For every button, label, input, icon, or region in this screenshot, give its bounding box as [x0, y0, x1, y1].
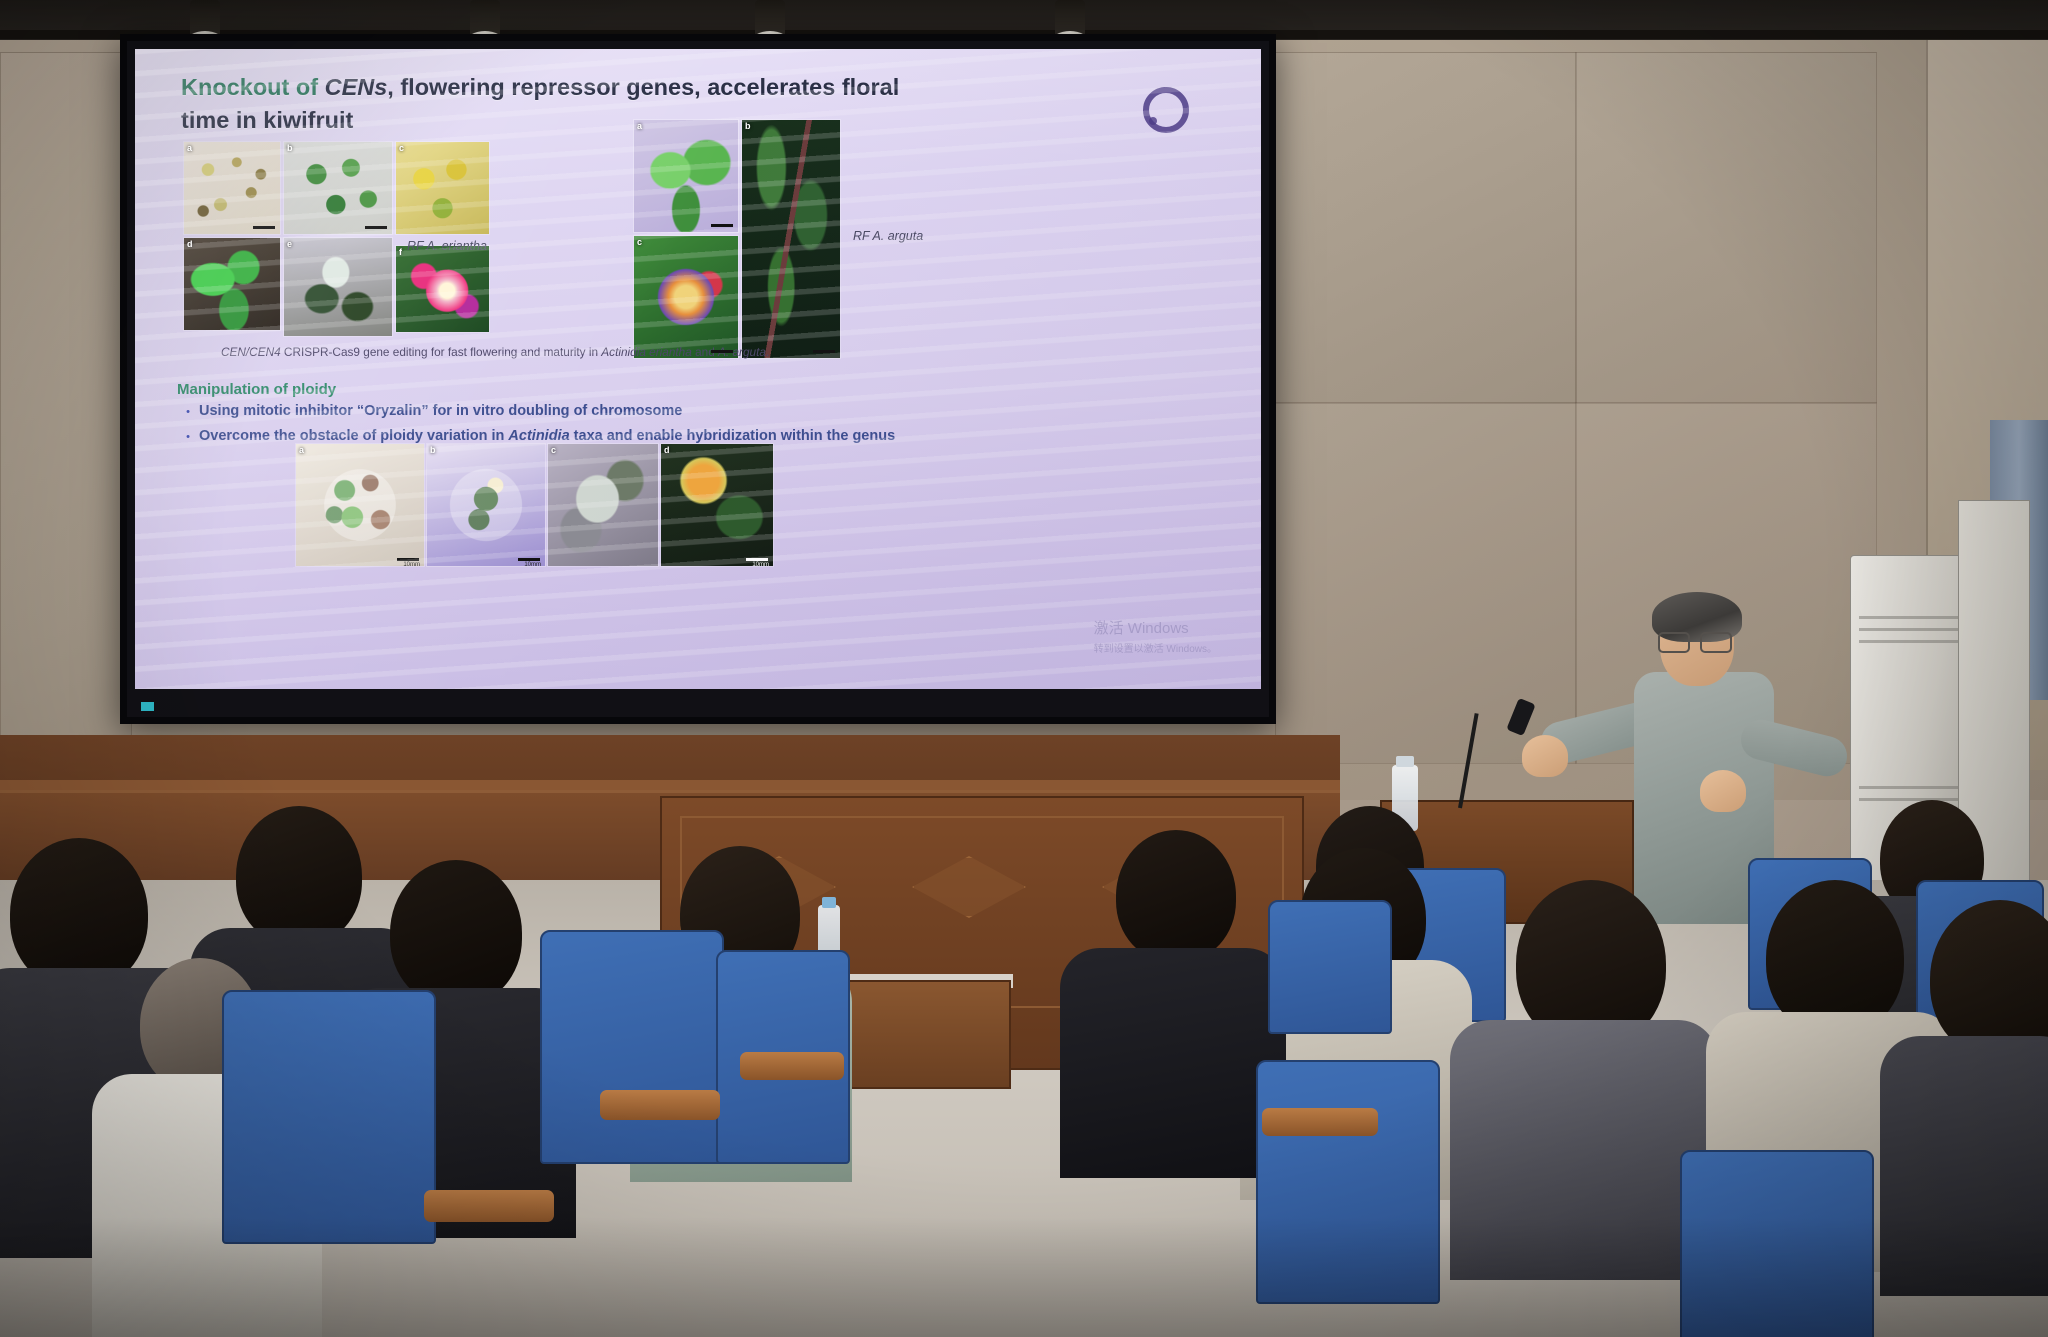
panel-label: a: [299, 445, 304, 455]
windows-activation-watermark: 激活 Windows 转到设置以激活 Windows。: [1094, 617, 1217, 655]
lecture-hall-photo: Knockout of CENs, flowering repressor ge…: [0, 0, 2048, 1337]
scale-bar-icon: [397, 558, 419, 561]
watermark-subtitle: 转到设置以激活 Windows。: [1094, 640, 1217, 655]
seat-chair: [1256, 1060, 1440, 1304]
audience-body: [1450, 1020, 1718, 1280]
panel-label: c: [551, 445, 556, 455]
scale-bar-icon: [813, 350, 835, 353]
audience-head: [1116, 830, 1236, 962]
panel-label: a: [637, 121, 642, 131]
chair-armrest: [424, 1190, 554, 1222]
audience-body: [1880, 1036, 2048, 1296]
audience: [0, 0, 2048, 1337]
seat-chair: [540, 930, 724, 1164]
panel-label: c: [637, 237, 642, 247]
scale-bar-icon: [518, 558, 540, 561]
panel-label: d: [664, 445, 670, 455]
chair-armrest: [600, 1090, 720, 1120]
audience-body: [1060, 948, 1286, 1178]
scale-bar-icon: [746, 558, 768, 561]
scale-bar-icon: [711, 350, 733, 353]
seat-chair: [222, 990, 436, 1244]
chair-armrest: [740, 1052, 844, 1080]
panel-label: b: [430, 445, 436, 455]
seat-chair: [1268, 900, 1392, 1034]
chair-armrest: [1262, 1108, 1378, 1136]
audience-head: [236, 806, 362, 946]
scale-bar-icon: [253, 226, 275, 229]
panel-label: f: [399, 247, 402, 257]
scale-bar-icon: [365, 226, 387, 229]
watermark-title: 激活 Windows: [1094, 617, 1217, 638]
audience-head: [390, 860, 522, 1006]
panel-label: c: [399, 143, 404, 153]
panel-label: a: [187, 143, 192, 153]
panel-label: d: [187, 239, 193, 249]
panel-label: b: [745, 121, 751, 131]
scale-bar-icon: [711, 224, 733, 227]
seat-chair: [1680, 1150, 1874, 1337]
panel-label: b: [287, 143, 293, 153]
panel-label: e: [287, 239, 292, 249]
